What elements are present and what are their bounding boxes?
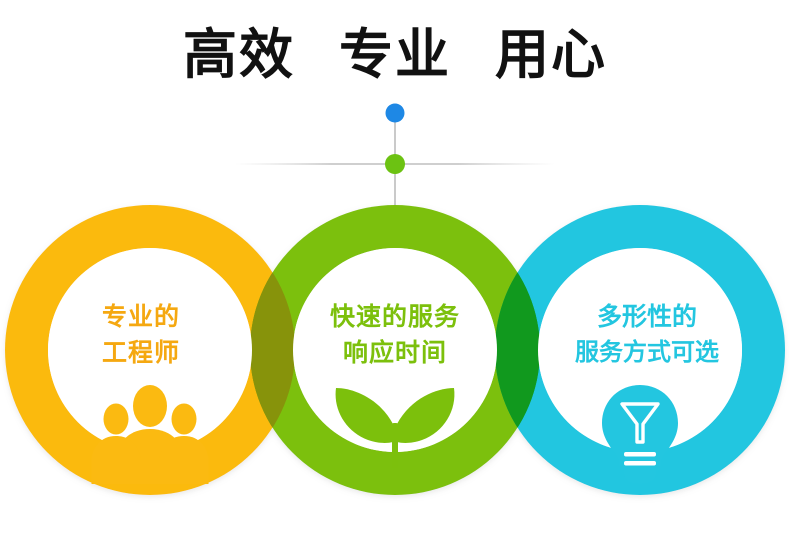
green-label-line-1: 快速的服务 bbox=[280, 300, 510, 336]
poster-canvas: 高效专业用心 bbox=[0, 0, 790, 557]
venn-diagram bbox=[0, 0, 790, 557]
orange-circle-text: 专业的 工程师 bbox=[26, 300, 256, 371]
orange-label-line-2: 工程师 bbox=[26, 336, 256, 372]
cyan-label-line-2: 服务方式可选 bbox=[532, 336, 762, 370]
green-circle-text: 快速的服务 响应时间 bbox=[280, 300, 510, 371]
orange-label-line-1: 专业的 bbox=[26, 300, 256, 336]
cyan-circle-text: 多形性的 服务方式可选 bbox=[532, 300, 762, 370]
green-label-line-2: 响应时间 bbox=[280, 336, 510, 372]
cyan-label-line-1: 多形性的 bbox=[532, 300, 762, 336]
